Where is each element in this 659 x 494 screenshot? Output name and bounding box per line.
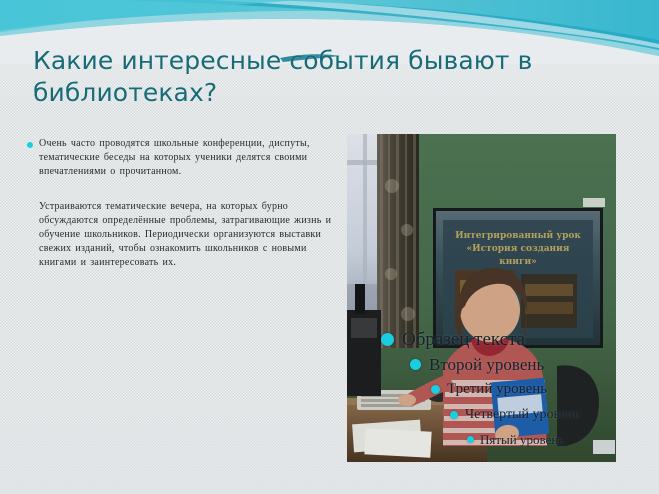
presentation-slide: Какие интересные события бывают в библио… [0,0,659,494]
body-paragraph-row: Очень часто проводятся школьные конферен… [27,137,339,180]
placeholder-item-level-1[interactable]: Образец текста [347,327,619,352]
placeholder-label-level-5: Пятый уровень [480,432,564,448]
slide-title: Какие интересные события бывают в библио… [33,45,633,109]
bullet-dot-icon [450,411,458,419]
placeholder-item-level-5[interactable]: Пятый уровень [347,427,619,452]
round-bullet-icon [27,142,33,148]
placeholder-item-level-3[interactable]: Третий уровень [347,377,619,402]
body-text-block: Очень часто проводятся школьные конферен… [27,137,339,271]
placeholder-item-level-2[interactable]: Второй уровень [347,352,619,377]
placeholder-label-level-4: Четвертый уровень [465,407,580,423]
bullet-dot-icon [381,333,394,346]
bullet-dot-icon [467,436,474,443]
placeholder-label-level-3: Третий уровень [447,381,547,398]
body-paragraph-2: Устраиваются тематические вечера, на кот… [39,200,339,271]
placeholder-label-level-1: Образец текста [402,329,525,351]
content-placeholder-list[interactable]: Образец текста Второй уровень Третий уро… [347,327,619,452]
bullet-dot-icon [410,359,421,370]
body-paragraph-1: Очень часто проводятся школьные конферен… [39,137,339,180]
placeholder-item-level-4[interactable]: Четвертый уровень [347,402,619,427]
placeholder-label-level-2: Второй уровень [429,355,544,375]
bullet-dot-icon [431,385,440,394]
